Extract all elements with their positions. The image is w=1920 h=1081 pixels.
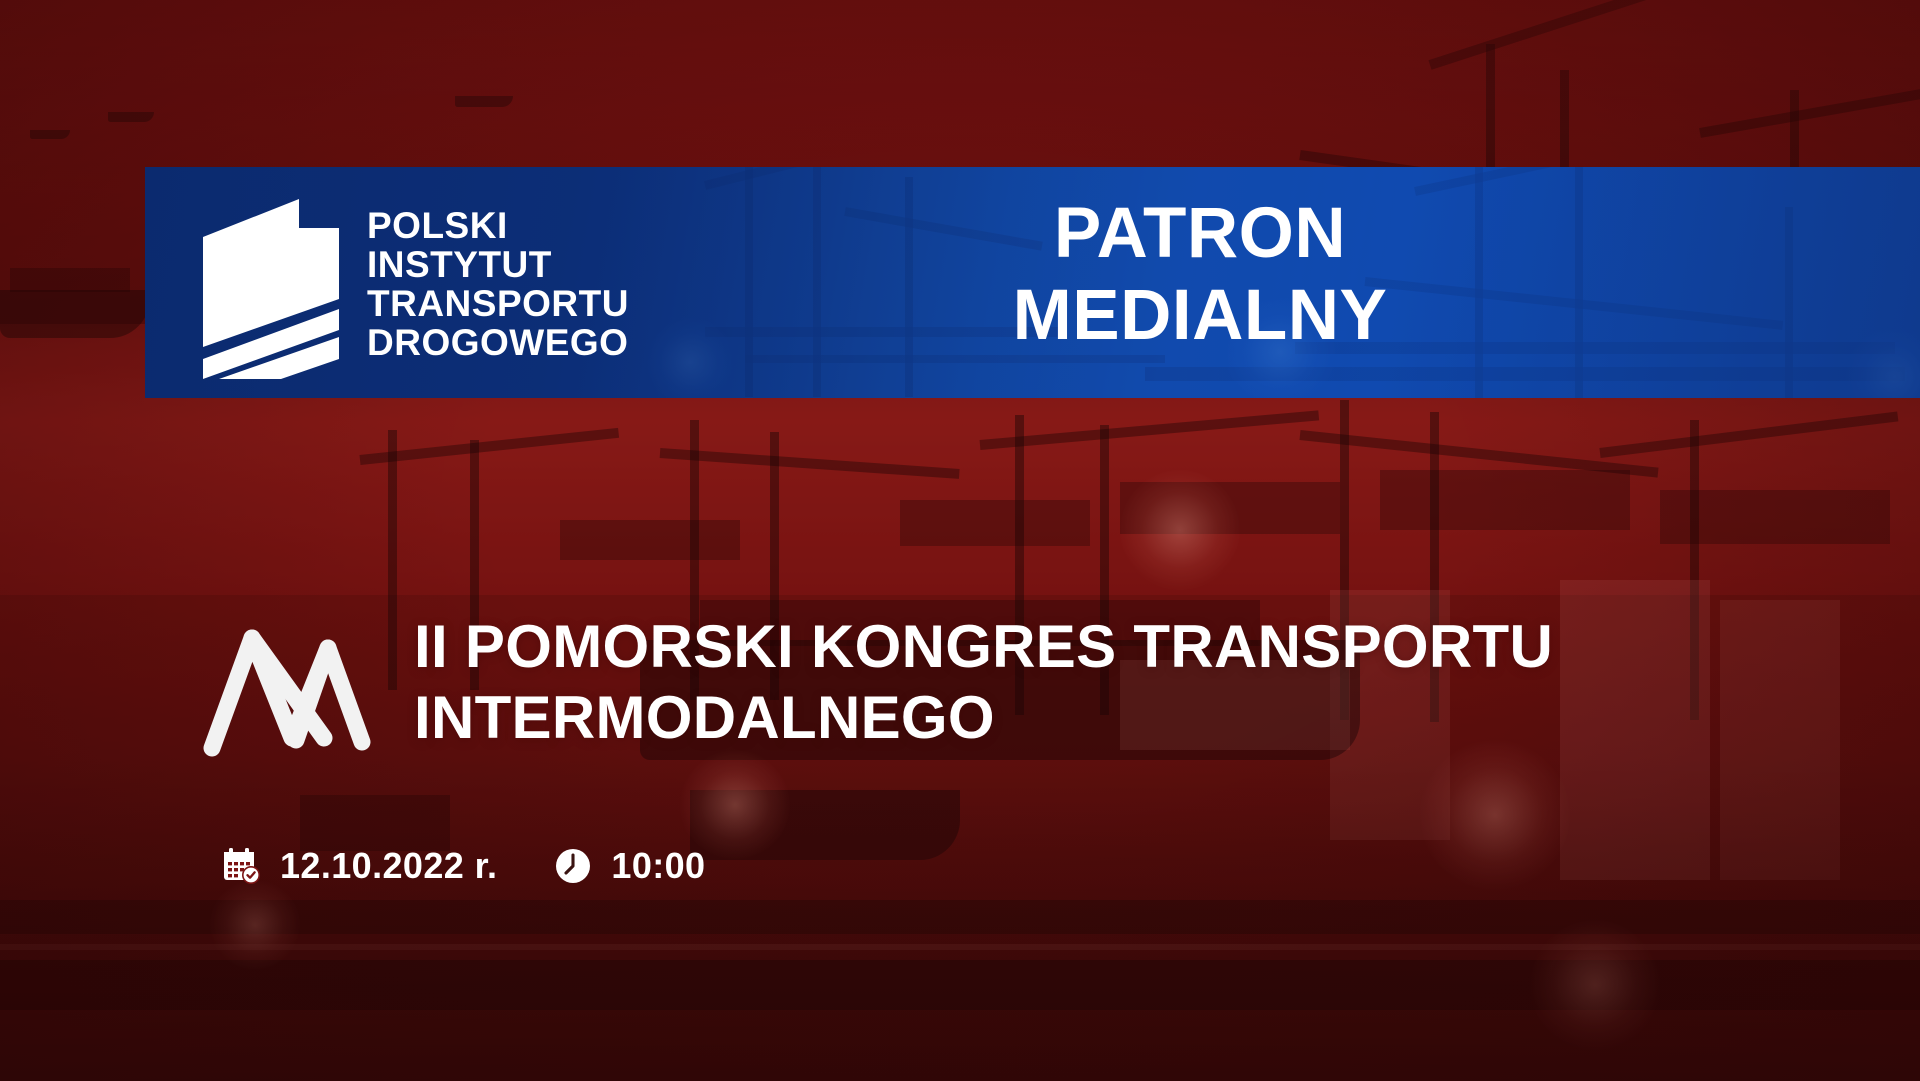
photo-vignette bbox=[0, 0, 1920, 1081]
calendar-check-icon bbox=[222, 846, 262, 886]
pitd-line-1: POLSKI bbox=[367, 206, 629, 245]
kongres-zigzag-mark bbox=[196, 620, 376, 760]
pitd-line-2: INSTYTUT bbox=[367, 245, 629, 284]
event-heading: II POMORSKI KONGRES TRANSPORTU INTERMODA… bbox=[196, 612, 1514, 760]
event-title-line-1: II POMORSKI KONGRES TRANSPORTU bbox=[414, 612, 1514, 683]
event-time-value: 10:00 bbox=[611, 845, 705, 887]
event-time: 10:00 bbox=[553, 845, 705, 887]
pitd-line-4: DROGOWEGO bbox=[367, 323, 629, 362]
sponsor-band: POLSKI INSTYTUT TRANSPORTU DROGOWEGO PAT… bbox=[145, 167, 1920, 398]
pitd-logo-text: POLSKI INSTYTUT TRANSPORTU DROGOWEGO bbox=[367, 206, 629, 363]
patron-line-2: MEDIALNY bbox=[890, 275, 1510, 357]
event-date-value: 12.10.2022 r. bbox=[280, 845, 497, 887]
patron-line-1: PATRON bbox=[890, 193, 1510, 275]
pitd-line-3: TRANSPORTU bbox=[367, 284, 629, 323]
background-photo bbox=[0, 0, 1920, 1081]
event-date: 12.10.2022 r. bbox=[222, 845, 497, 887]
event-meta: 12.10.2022 r. 10:00 bbox=[222, 845, 705, 887]
event-title: II POMORSKI KONGRES TRANSPORTU INTERMODA… bbox=[414, 612, 1514, 754]
event-title-line-2: INTERMODALNEGO bbox=[414, 683, 1514, 754]
pitd-logo-mark bbox=[203, 189, 339, 379]
clock-icon bbox=[553, 846, 593, 886]
patron-medialny-text: PATRON MEDIALNY bbox=[890, 193, 1510, 356]
pitd-logo-lockup: POLSKI INSTYTUT TRANSPORTU DROGOWEGO bbox=[203, 189, 629, 379]
promo-banner: POLSKI INSTYTUT TRANSPORTU DROGOWEGO PAT… bbox=[0, 0, 1920, 1081]
